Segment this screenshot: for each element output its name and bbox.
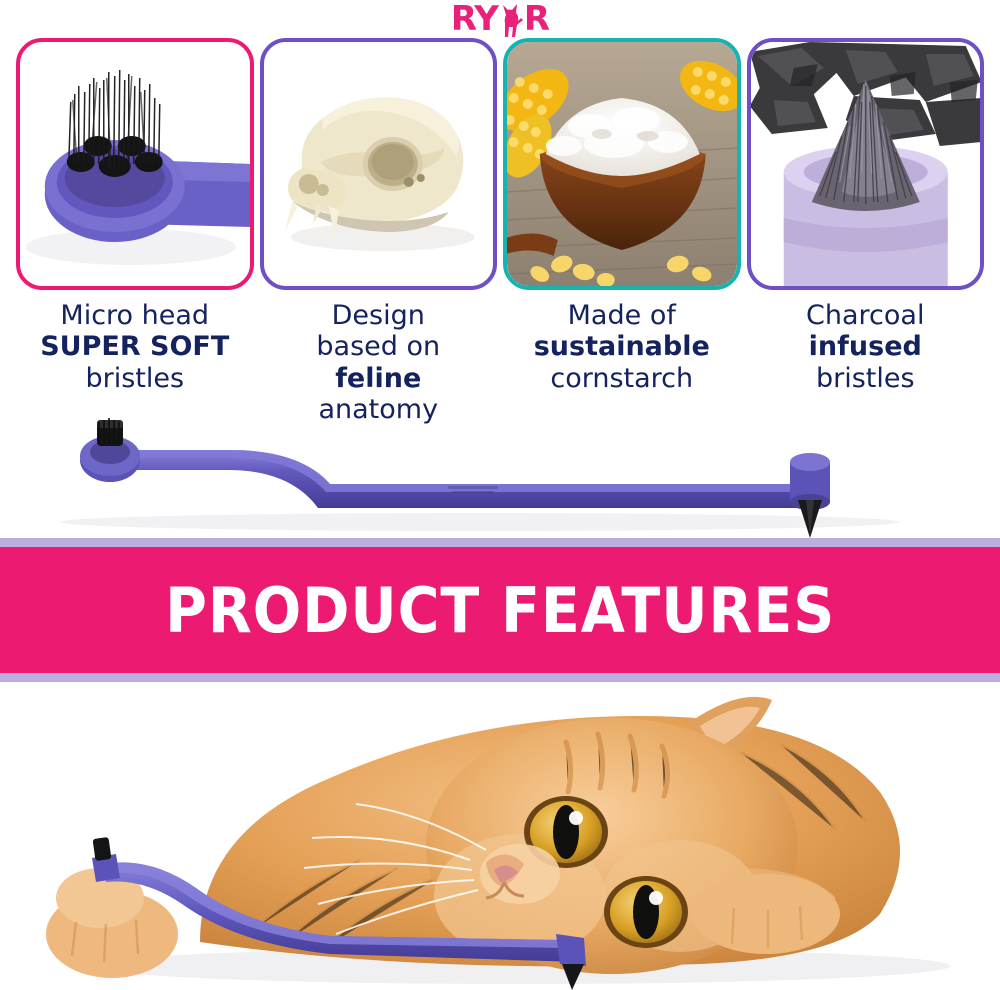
caption-line: Made of xyxy=(503,300,741,331)
caption-emphasis: SUPER SOFT xyxy=(40,331,229,362)
cat-eye-lower xyxy=(604,876,688,948)
cat-toothbrush-product-photo xyxy=(0,398,1000,538)
caption-line: SUPER SOFT xyxy=(16,331,254,362)
charcoal-bristle-tip-photo xyxy=(751,42,981,286)
feature-card-feline-anatomy xyxy=(260,38,498,290)
caption-line: infused xyxy=(747,331,985,362)
feature-card-row xyxy=(0,38,1000,290)
caption-line: sustainable xyxy=(503,331,741,362)
product-features-banner: PRODUCT FEATURES xyxy=(0,538,1000,682)
feature-card-sustainable-cornstarch xyxy=(503,38,741,290)
caption-line: Design xyxy=(260,300,498,331)
feature-card-micro-head xyxy=(16,38,254,290)
brand-logo: RY R xyxy=(451,1,549,37)
caption-emphasis: infused xyxy=(809,331,922,362)
orange-tabby-cat-with-toothbrush-photo xyxy=(0,682,1000,990)
caption-line: cornstarch xyxy=(503,363,741,394)
caption-emphasis: sustainable xyxy=(534,331,710,362)
cat-skull-photo xyxy=(264,42,494,286)
cat-silhouette-icon xyxy=(496,1,526,37)
brand-header: RY R xyxy=(0,0,1000,38)
logo-text-left: RY xyxy=(451,2,498,36)
logo-text-right: R xyxy=(524,2,549,36)
banner-title: PRODUCT FEATURES xyxy=(165,574,835,647)
caption-line: bristles xyxy=(747,363,985,394)
brush-head-bristles-photo xyxy=(20,42,250,286)
caption-line: based on xyxy=(260,331,498,362)
caption-line: Micro head xyxy=(16,300,254,331)
caption-line: bristles xyxy=(16,363,254,394)
caption-emphasis: feline xyxy=(335,363,421,394)
caption-line: feline xyxy=(260,363,498,394)
caption-line: Charcoal xyxy=(747,300,985,331)
cornstarch-bowl-corn-photo xyxy=(507,42,737,286)
feature-card-charcoal-infused xyxy=(747,38,985,290)
